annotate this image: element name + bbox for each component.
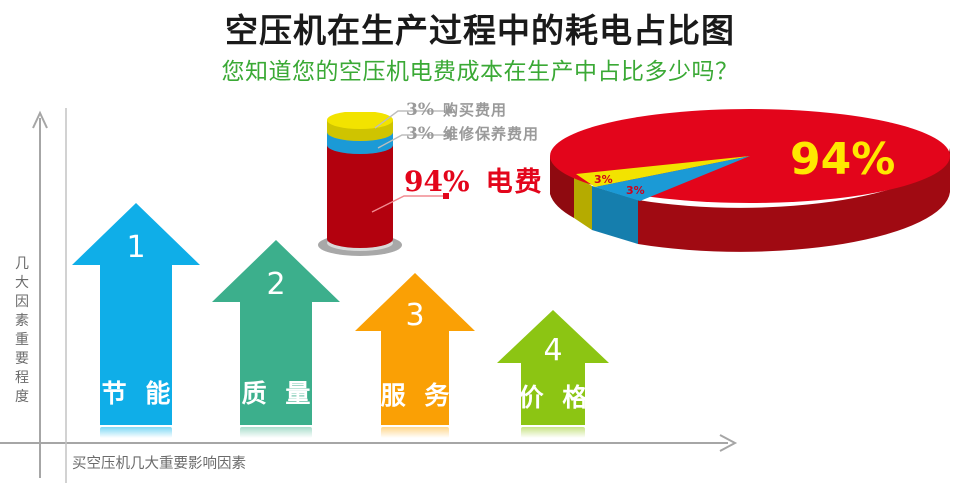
arrow-label-3: 服 务	[355, 383, 475, 408]
y-axis-char: 几	[10, 255, 34, 274]
arrow-reflection-4	[521, 427, 585, 438]
y-axis-char: 因	[10, 293, 34, 312]
y-axis-char: 大	[10, 274, 34, 293]
arrow-bar-4: 4 价 格	[497, 310, 609, 425]
callout-purchase-name: 购买费用	[443, 101, 507, 119]
y-axis-char: 要	[10, 350, 34, 369]
arrow-bar-3: 3 服 务	[355, 273, 475, 425]
callout-electricity-value: 94%	[404, 165, 470, 198]
callout-electricity: 94%电费	[404, 168, 544, 196]
arrow-bar-2: 2 质 量	[212, 240, 340, 425]
arrow-reflection-3	[381, 427, 449, 438]
pie-label-blue: 3%	[626, 185, 645, 196]
pie-label-yellow: 3%	[594, 174, 613, 185]
arrow-rank-1: 1	[72, 233, 200, 263]
arrow-reflection-1	[100, 427, 172, 438]
y-axis-char: 度	[10, 388, 34, 407]
stacked-cylinder-chart	[300, 112, 420, 257]
callout-maintenance-name: 维修保养费用	[443, 125, 539, 143]
x-axis-label: 买空压机几大重要影响因素	[72, 452, 246, 473]
arrow-reflection-2	[240, 427, 312, 438]
arrow-label-4: 价 格	[497, 385, 609, 410]
arrow-rank-3: 3	[355, 301, 475, 331]
arrow-label-2: 质 量	[212, 381, 340, 406]
y-axis-char: 素	[10, 312, 34, 331]
y-axis-char: 程	[10, 369, 34, 388]
y-axis-char: 重	[10, 331, 34, 350]
arrow-bar-1: 1 节 能	[72, 203, 200, 425]
callout-maintenance: 3%维修保养费用	[406, 126, 539, 143]
arrow-rank-4: 4	[497, 336, 609, 366]
cylinder-segment-electricity	[327, 145, 393, 248]
infographic-canvas: 空压机在生产过程中的耗电占比图 您知道您的空压机电费成本在生产中占比多少吗？ 几…	[0, 0, 960, 483]
y-axis-label: 几 大 因 素 重 要 程 度	[10, 255, 34, 407]
arrow-rank-2: 2	[212, 270, 340, 300]
callout-electricity-name: 电费	[486, 167, 544, 198]
callout-purchase: 3%购买费用	[406, 102, 507, 119]
arrow-label-1: 节 能	[72, 381, 200, 406]
pie-label-main: 94%	[790, 138, 895, 182]
callout-maintenance-value: 3%	[406, 124, 434, 144]
callout-purchase-value: 3%	[406, 100, 434, 120]
